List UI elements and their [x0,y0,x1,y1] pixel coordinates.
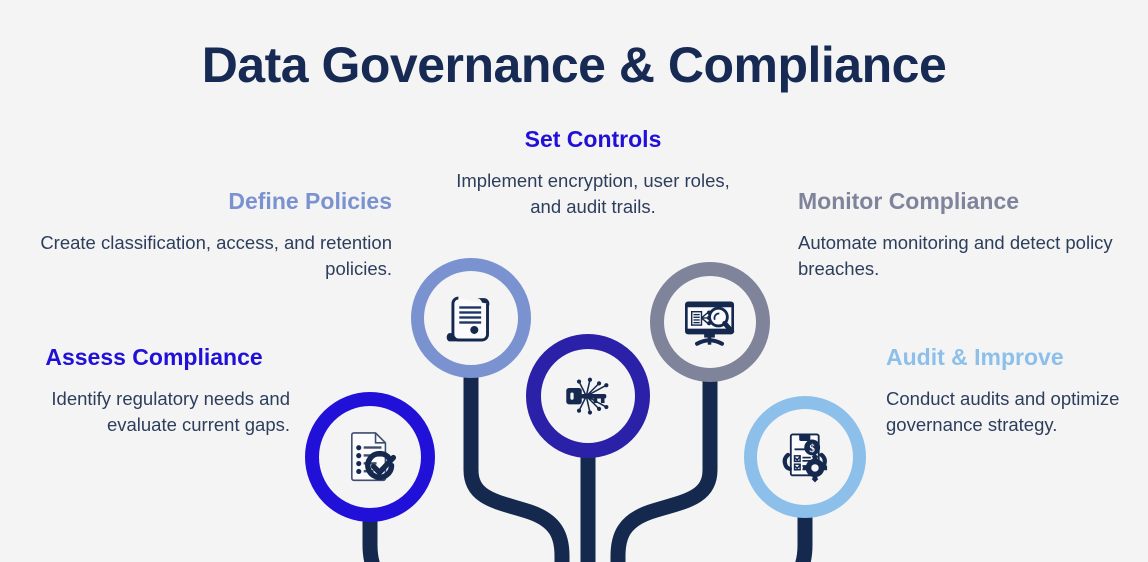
step-text-monitor-compliance: Monitor Compliance Automate monitoring a… [798,188,1128,283]
step-text-define-policies: Define Policies Create classification, a… [20,188,392,283]
node-set-controls[interactable] [526,334,650,458]
step-body-assess-compliance: Identify regulatory needs and evaluate c… [18,386,290,440]
infographic-canvas: Data Governance & Compliance Define Poli… [0,0,1148,562]
step-body-monitor-compliance: Automate monitoring and detect policy br… [798,230,1128,284]
node-audit-improve[interactable]: $ [744,396,866,518]
step-heading-monitor-compliance: Monitor Compliance [798,188,1128,216]
step-text-assess-compliance: Assess Compliance Identify regulatory ne… [18,344,290,439]
stem-assess [370,522,382,562]
step-body-define-policies: Create classification, access, and reten… [20,230,392,284]
digital-key-icon [559,367,617,425]
step-body-set-controls: Implement encryption, user roles, and au… [452,168,734,222]
checklist-check-icon [338,425,401,488]
svg-text:$: $ [810,443,816,455]
monitor-magnifier-icon [681,293,738,350]
node-define-policies[interactable] [411,258,531,378]
node-monitor-compliance[interactable] [650,262,770,382]
stem-audit [793,518,805,562]
step-heading-audit-improve: Audit & Improve [886,344,1136,372]
step-text-audit-improve: Audit & Improve Conduct audits and optim… [886,344,1136,439]
step-heading-set-controls: Set Controls [452,126,734,154]
step-body-audit-improve: Conduct audits and optimize governance s… [886,386,1136,440]
node-assess-compliance[interactable] [305,392,435,522]
clipboard-dollar-gear-icon: $ [775,427,835,487]
scroll-document-icon [442,289,500,347]
step-heading-define-policies: Define Policies [20,188,392,216]
step-heading-assess-compliance: Assess Compliance [18,344,290,372]
step-text-set-controls: Set Controls Implement encryption, user … [452,126,734,221]
